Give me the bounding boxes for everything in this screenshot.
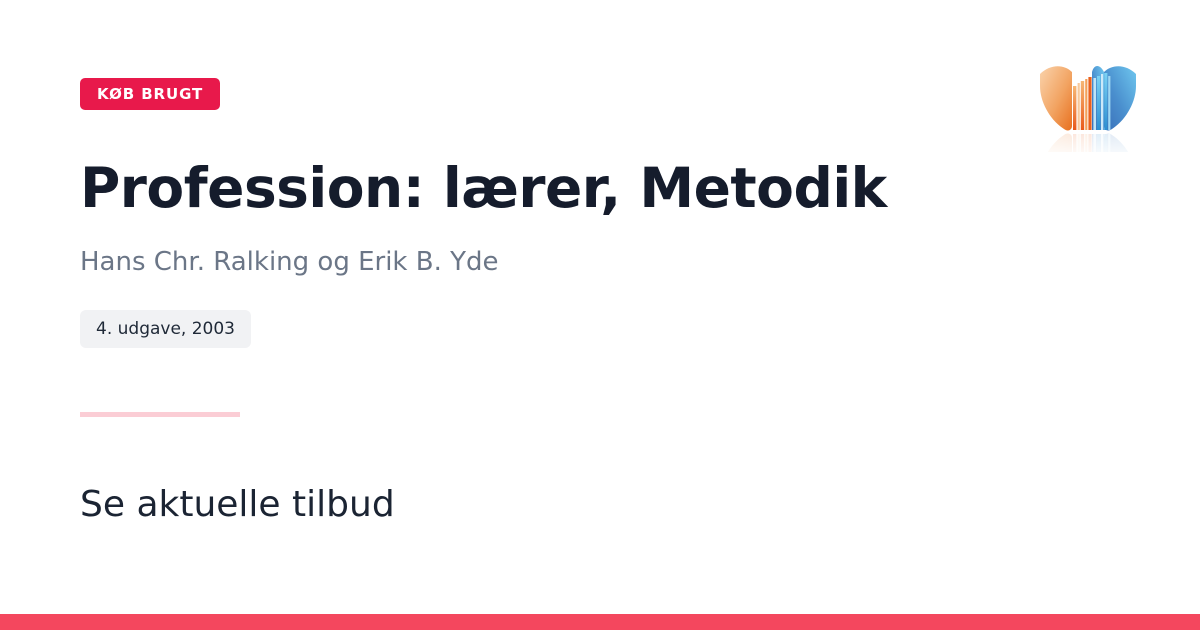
see-offers-link[interactable]: Se aktuelle tilbud [80,483,395,526]
book-author: Hans Chr. Ralking og Erik B. Yde [80,247,499,278]
bottom-accent-bar [0,614,1200,630]
butterfly-book-logo-icon [1032,52,1144,152]
brand-logo[interactable] [1032,52,1144,152]
buy-used-badge[interactable]: KØB BRUGT [80,78,220,110]
section-divider [80,412,240,417]
book-title: Profession: lærer, Metodik [80,158,887,220]
buy-used-badge-label: KØB BRUGT [97,87,203,102]
book-share-card: KØB BRUGT Profession: lærer, Metodik Han… [0,0,1200,630]
edition-chip-label: 4. udgave, 2003 [96,321,235,338]
edition-chip: 4. udgave, 2003 [80,310,251,348]
